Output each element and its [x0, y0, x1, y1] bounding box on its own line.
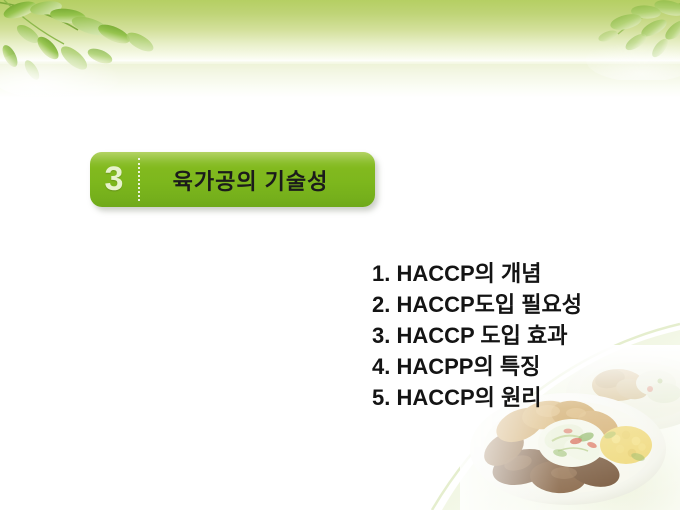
list-item: 3. HACCP 도입 효과: [372, 320, 662, 351]
top-band: [0, 0, 680, 62]
list-item: 4. HACPP의 특징: [372, 351, 662, 382]
agenda-list: 1. HACCP의 개념 2. HACCP도입 필요성 3. HACCP 도입 …: [372, 258, 662, 413]
list-item: 2. HACCP도입 필요성: [372, 289, 662, 320]
section-badge[interactable]: 3 육가공의 기술성: [90, 152, 375, 207]
list-item: 1. HACCP의 개념: [372, 258, 662, 289]
slide-canvas: 3 육가공의 기술성 1. HACCP의 개념 2. HACCP도입 필요성 3…: [0, 0, 680, 510]
list-item: 5. HACCP의 원리: [372, 382, 662, 413]
section-title: 육가공의 기술성: [140, 164, 375, 196]
section-number: 3: [90, 162, 138, 198]
top-band-fade: [0, 64, 680, 98]
